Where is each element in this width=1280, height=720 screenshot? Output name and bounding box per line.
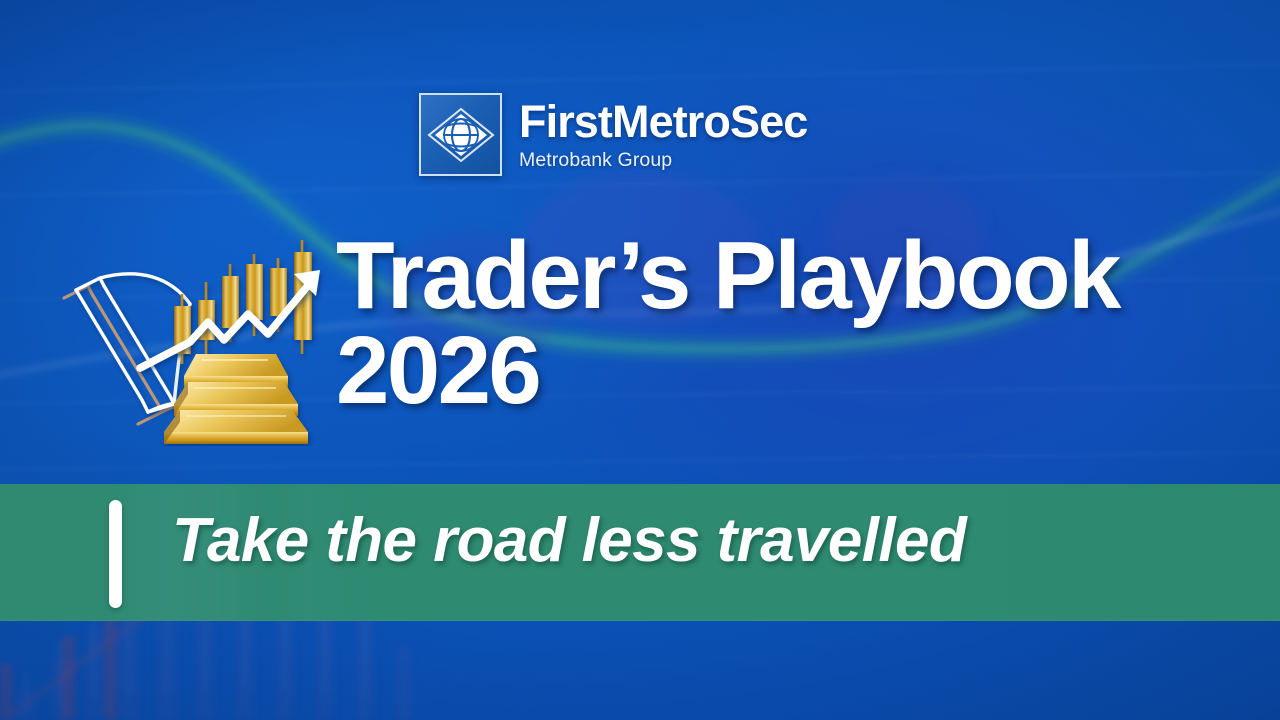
brand-logo-lockup: FirstMetroSec Metrobank Group bbox=[419, 93, 807, 176]
poster-canvas: FirstMetroSec Metrobank Group Trader’s P… bbox=[0, 0, 1280, 720]
banner-accent-bar bbox=[109, 500, 122, 608]
brand-name: FirstMetroSec bbox=[519, 99, 807, 144]
metrobank-diamond-globe-icon bbox=[419, 93, 502, 176]
page-title-line-1: Trader’s Playbook bbox=[336, 222, 1119, 329]
gold-bars-stack bbox=[164, 354, 308, 444]
page-title-line-2: 2026 bbox=[336, 323, 1236, 418]
hero-illustration bbox=[62, 236, 342, 446]
brand-wordmark: FirstMetroSec Metrobank Group bbox=[519, 99, 807, 171]
page-title: Trader’s Playbook 2026 bbox=[336, 228, 1236, 418]
banner-tagline: Take the road less travelled bbox=[172, 505, 966, 576]
brand-sub-tagline: Metrobank Group bbox=[519, 151, 807, 171]
